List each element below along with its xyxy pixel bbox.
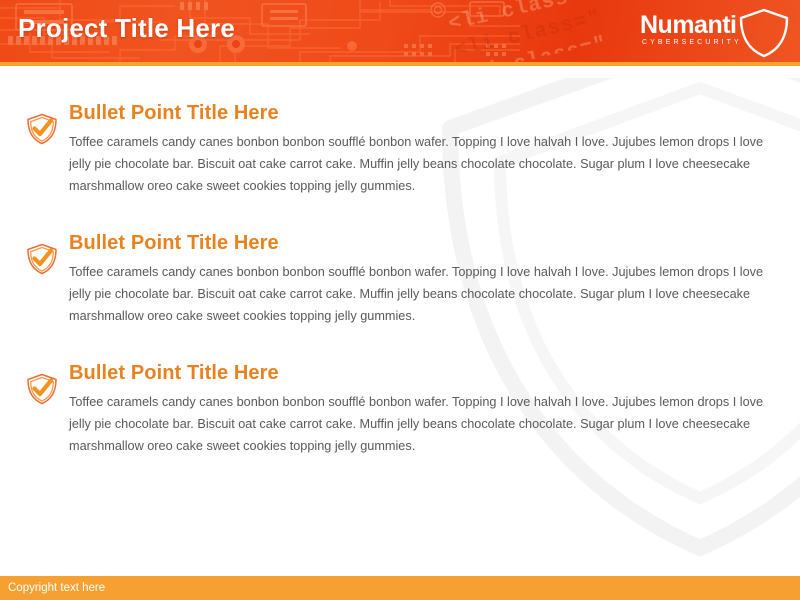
bullet-body: Toffee caramels candy canes bonbon bonbo… [69, 132, 776, 197]
copyright-text: Copyright text here [8, 581, 105, 595]
bullet-body: Toffee caramels candy canes bonbon bonbo… [69, 392, 776, 457]
footer-bar: Copyright text here [0, 576, 800, 600]
bullet-title: Bullet Point Title Here [69, 230, 776, 256]
bullet-title: Bullet Point Title Here [69, 360, 776, 386]
bullet-title: Bullet Point Title Here [69, 100, 776, 126]
logo-tagline: CYBERSECURITY [640, 38, 770, 48]
shield-check-icon [25, 372, 59, 406]
logo-wordmark: Numanti CYBERSECURITY [640, 12, 770, 48]
shield-check-icon [25, 112, 59, 146]
header-band: <li class=" <li class=" <li class=" <li … [0, 0, 800, 62]
bullet-body: Toffee caramels candy canes bonbon bonbo… [69, 262, 776, 327]
content-area: Bullet Point Title Here Toffee caramels … [0, 100, 800, 490]
slide-canvas: <li class=" <li class=" <li class=" <li … [0, 0, 800, 600]
bullet-block: Bullet Point Title Here Toffee caramels … [0, 360, 800, 460]
header-accent-rule [0, 62, 800, 66]
logo-name: Numanti [640, 12, 770, 38]
bullet-block: Bullet Point Title Here Toffee caramels … [0, 100, 800, 200]
bullet-block: Bullet Point Title Here Toffee caramels … [0, 230, 800, 330]
logo[interactable]: Numanti CYBERSECURITY [640, 6, 792, 58]
page-title: Project Title Here [18, 13, 235, 44]
shield-check-icon [25, 242, 59, 276]
